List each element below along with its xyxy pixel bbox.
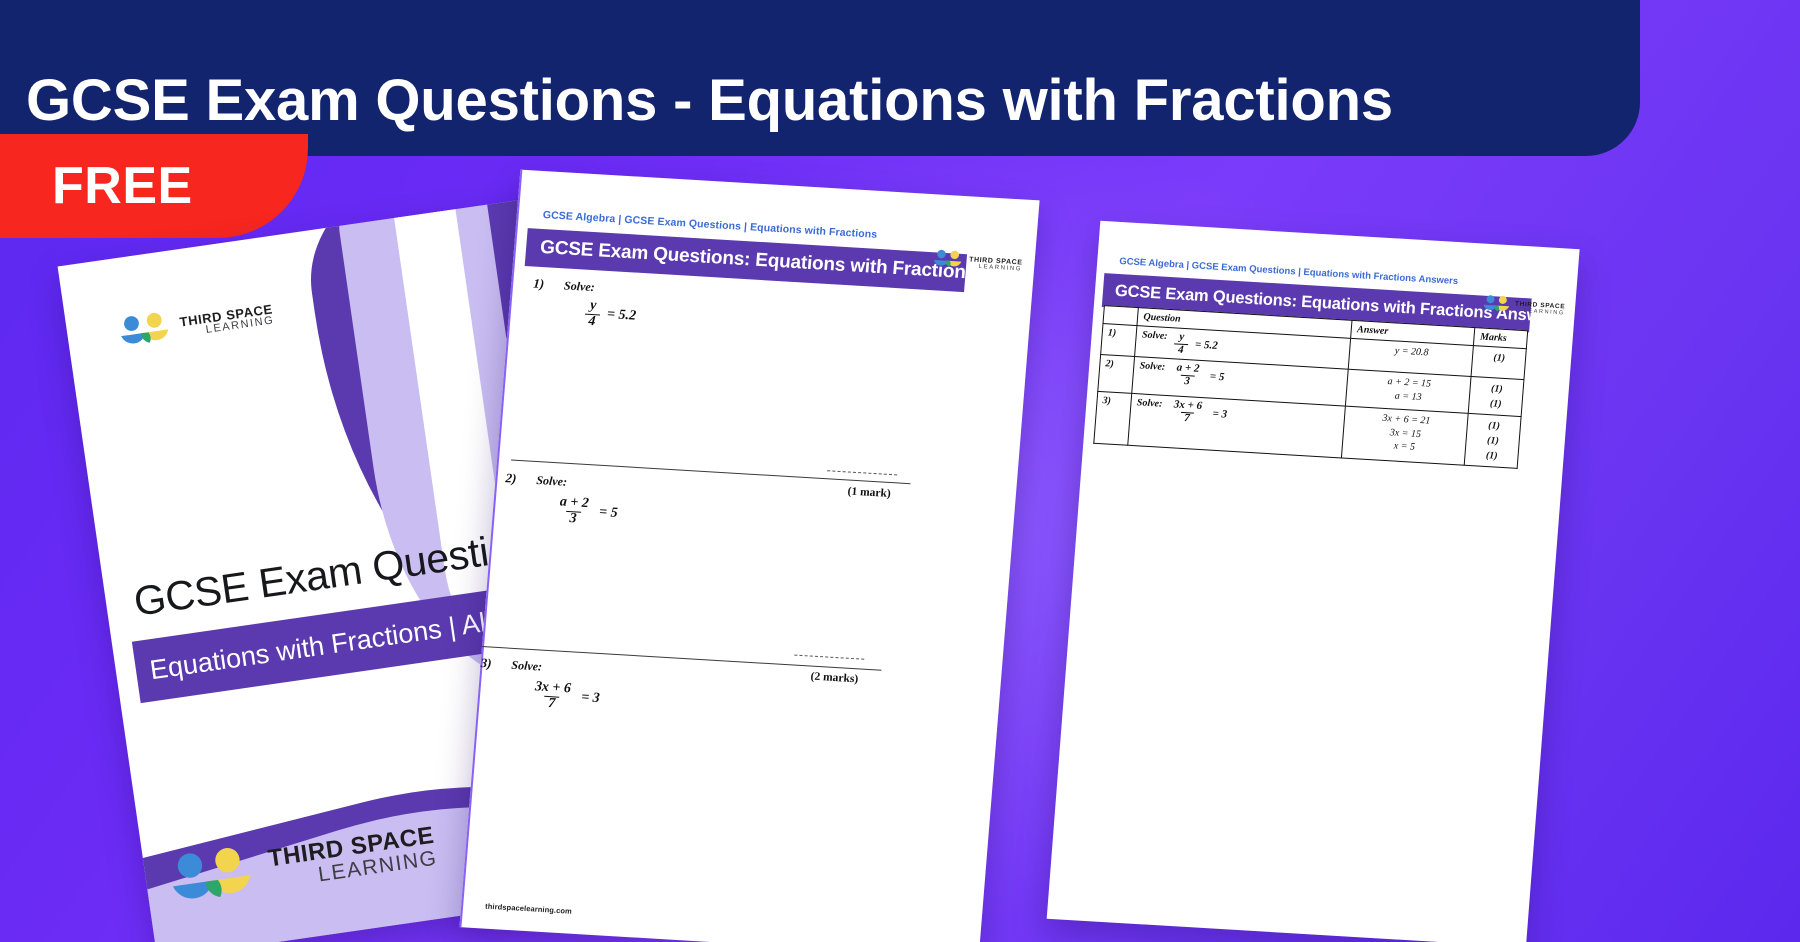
- row-1-equals: = 5.2: [1195, 339, 1219, 352]
- brand-logo-questions-text: THIRD SPACE LEARNING: [968, 256, 1022, 272]
- free-badge-label: FREE: [52, 156, 193, 216]
- questions-page-thumbnail[interactable]: GCSE Algebra | GCSE Exam Questions | Equ…: [459, 170, 1039, 942]
- row-1-answer-line-1: y = 20.8: [1355, 342, 1468, 362]
- free-badge: FREE: [0, 134, 308, 238]
- question-3-equation: 3x + 6 7 = 3: [529, 677, 601, 714]
- row-3-equals: = 3: [1212, 408, 1227, 421]
- answers-table-body: 1) Solve: y 4 = 5.2 y = 20.8: [1094, 324, 1527, 469]
- row-3-answer: 3x + 6 = 21 3x = 15 x = 5: [1342, 406, 1469, 465]
- answers-table: Question Answer Marks 1) Solve: y 4: [1093, 305, 1528, 469]
- question-1-marks: (1 mark): [847, 486, 891, 501]
- row-2-solve-label: Solve:: [1139, 360, 1165, 372]
- row-2-number: 2): [1098, 355, 1135, 394]
- question-2-equation: a + 2 3 = 5: [554, 492, 619, 529]
- row-1-denominator: 4: [1174, 343, 1188, 356]
- row-3-denominator: 7: [1180, 411, 1194, 424]
- question-1-equation: y 4 = 5.2: [584, 296, 638, 332]
- row-2-marks: (1) (1): [1469, 377, 1524, 417]
- question-3-number: 3): [480, 655, 492, 671]
- answer-dotted-line-1: [827, 470, 897, 475]
- question-2-numerator: a + 2: [555, 495, 593, 512]
- brand-logo-top-text: THIRD SPACE LEARNING: [179, 302, 275, 339]
- question-1-number: 1): [533, 276, 545, 292]
- row-2-denominator: 3: [1180, 374, 1194, 387]
- question-2-prompt: Solve:: [536, 473, 568, 489]
- row-1-fraction: y 4: [1174, 331, 1189, 356]
- third-space-learning-icon: [166, 842, 260, 915]
- row-3-marks: (1) (1) (1): [1465, 414, 1521, 469]
- third-space-learning-icon: [1482, 294, 1512, 320]
- brand-logo-answers: THIRD SPACE LEARNING: [1482, 294, 1566, 323]
- question-1-numerator: y: [585, 299, 600, 314]
- question-1-equals: = 5.2: [606, 307, 636, 325]
- third-space-learning-icon: [933, 248, 965, 275]
- question-2-marks: (2 marks): [810, 671, 858, 686]
- row-2-numerator: a + 2: [1172, 362, 1204, 375]
- question-3-prompt: Solve:: [511, 658, 543, 674]
- question-1-fraction: y 4: [584, 299, 601, 330]
- row-3-mark-3: (1): [1470, 447, 1513, 464]
- header-banner: GCSE Exam Questions - Equations with Fra…: [0, 0, 1640, 156]
- question-3-numerator: 3x + 6: [530, 680, 575, 697]
- brand-name-line2: LEARNING: [978, 264, 1022, 273]
- question-3-denominator: 7: [544, 696, 560, 713]
- question-2: 2) Solve:: [505, 469, 568, 491]
- third-space-learning-icon: [117, 309, 174, 355]
- col-header-number: [1103, 306, 1139, 326]
- answer-dotted-line-2: [794, 655, 864, 660]
- page-footer: thirdspacelearning.com: [485, 902, 572, 916]
- row-2-equals: = 5: [1209, 371, 1224, 384]
- question-2-denominator: 3: [565, 511, 581, 528]
- answers-page-thumbnail[interactable]: GCSE Algebra | GCSE Exam Questions | Equ…: [1047, 221, 1580, 942]
- row-3-fraction: 3x + 6 7: [1168, 399, 1206, 425]
- question-1-prompt: Solve:: [564, 278, 596, 294]
- row-3-number: 3): [1094, 391, 1132, 445]
- row-1-numerator: y: [1175, 331, 1189, 343]
- row-3-numerator: 3x + 6: [1169, 399, 1206, 413]
- brand-logo-questions: THIRD SPACE LEARNING: [933, 248, 1023, 278]
- row-1-marks: (1): [1472, 346, 1527, 380]
- question-2-fraction: a + 2 3: [554, 495, 593, 527]
- brand-logo-answers-text: THIRD SPACE LEARNING: [1514, 302, 1565, 317]
- row-1-number: 1): [1101, 324, 1138, 357]
- row-2-fraction: a + 2 3: [1171, 362, 1204, 388]
- question-3-fraction: 3x + 6 7: [529, 680, 575, 713]
- question-2-equals: = 5: [598, 505, 618, 522]
- page-title: GCSE Exam Questions - Equations with Fra…: [26, 72, 1393, 130]
- promo-graphic: GCSE Exam Questions - Equations with Fra…: [0, 0, 1800, 942]
- question-2-number: 2): [505, 470, 517, 486]
- row-1-solve-label: Solve:: [1142, 329, 1168, 341]
- question-3: 3) Solve:: [480, 654, 543, 676]
- brand-logo-top: THIRD SPACE LEARNING: [117, 294, 276, 355]
- row-3-solve-label: Solve:: [1136, 397, 1162, 409]
- row-1-mark-1: (1): [1478, 349, 1521, 366]
- row-2-mark-2: (1): [1474, 395, 1517, 412]
- question-1-denominator: 4: [584, 313, 600, 330]
- questions-title: GCSE Exam Questions: Equations with Frac…: [539, 237, 977, 285]
- brand-name-line2: LEARNING: [1524, 309, 1565, 317]
- question-3-equals: = 3: [581, 690, 601, 707]
- question-1: 1) Solve:: [533, 275, 596, 297]
